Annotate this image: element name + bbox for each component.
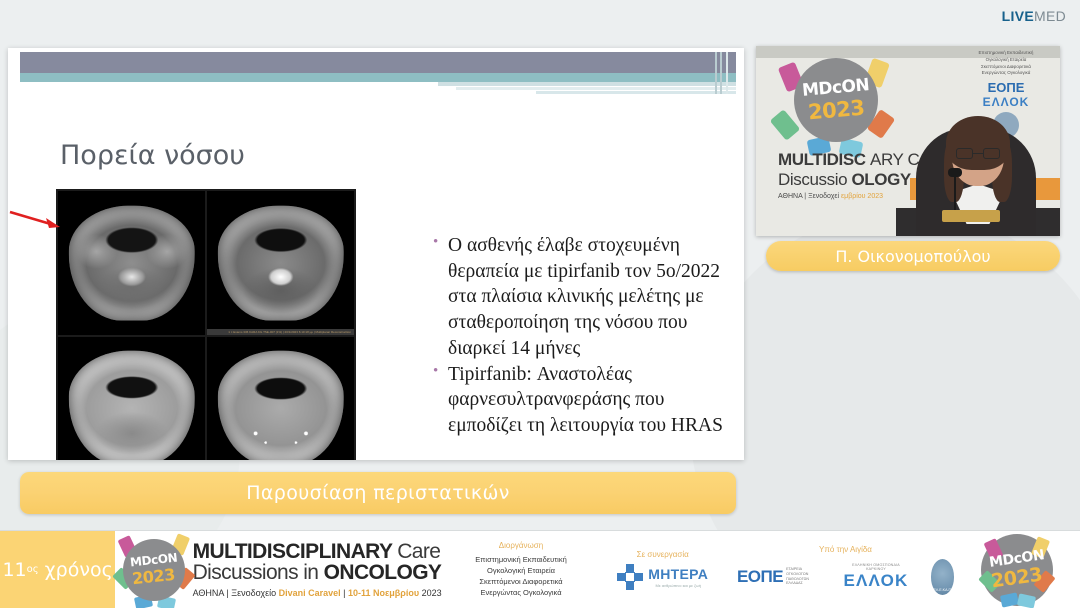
- backdrop-org-line: Ενεργώντας Ογκολογικά: [958, 70, 1054, 77]
- medical-cross-icon: [617, 564, 643, 590]
- slide-decor-vbar-3: [726, 52, 728, 94]
- logo-blob-blue: [1000, 592, 1019, 607]
- footer-venue-year: 2023: [419, 588, 442, 598]
- footer-conference-title: MULTIDISCIPLINARY Care Discussions in ON…: [193, 531, 454, 608]
- ellok-logo: ΕΛΛΗΝΙΚΗ ΟΜΟΣΠΟΝΔΙΑ ΚΑΡΚΙΝΟΥ ΕΛΛΟΚ: [843, 563, 908, 591]
- mri-panel-bottom-right: [207, 337, 354, 461]
- footer-title-line1-thin: Care: [397, 540, 440, 563]
- footer-organizer-line: Σκεπτόμενοι Διαφορετικά: [454, 576, 589, 587]
- ellok-caption: ΕΛΛΗΝΙΚΗ ΟΜΟΣΠΟΝΔΙΑ ΚΑΡΚΙΝΟΥ: [843, 563, 908, 571]
- footer-year-block: 11ος χρόνος: [0, 531, 115, 608]
- eope-subtitle: ΕΤΑΙΡΕΙΑ ΟΓΚΟΛΟΓΩΝ ΠΑΘΟΛΟΓΩΝ ΕΛΛΑΔΑΣ: [786, 567, 821, 586]
- backdrop-venue-date: εμβρίου 2023: [841, 193, 883, 200]
- mri-panel-top-left: [58, 191, 205, 335]
- livemed-logo-med: MED: [1034, 8, 1066, 24]
- mri-axial-slice: [68, 205, 194, 320]
- list-item: Tipirfanib: Αναστολέας φαρνεσυλτρανφεράσ…: [432, 362, 724, 439]
- backdrop-title-line2-bold: OLOGY: [851, 170, 910, 189]
- mitera-logo: ΜΗΤΕΡΑ Με ανθρώπινο και με ζωή: [588, 564, 736, 590]
- slide-title: Πορεία νόσου: [60, 140, 245, 171]
- footer-year-word: χρόνος: [45, 559, 113, 581]
- slide-header-band-grey: [20, 52, 736, 73]
- microphone-icon: [948, 168, 962, 177]
- mri-panel-bottom-left: [58, 337, 205, 461]
- footer-cooperation-heading: Σε συνεργασία: [588, 550, 736, 559]
- mitera-tagline: Με ανθρώπινο και με ζωή: [648, 583, 708, 588]
- footer-venue-sep: |: [341, 588, 348, 598]
- backdrop-venue: ΑΘΗΝΑ | Ξενοδοχεί: [778, 193, 839, 200]
- slide-decor-vbar-1: [715, 52, 717, 94]
- footer-aegis-heading: Υπό την Αιγίδα: [737, 545, 954, 554]
- footer-organizer-line: Επιστημονική Εκπαιδευτική: [454, 554, 589, 565]
- glasses-icon: [956, 148, 1000, 159]
- backdrop-eope-logo: ΕΟΠΕ: [958, 80, 1054, 95]
- logo-blob-cyan: [1017, 593, 1036, 608]
- footer-title-line2-bold: ONCOLOGY: [324, 561, 442, 584]
- session-banner-label: Παρουσίαση περιστατικών: [246, 482, 510, 504]
- backdrop-title-line1-bold: MULTIDISC: [778, 150, 866, 169]
- footer-title-line1-bold: MULTIDISCIPLINARY: [193, 540, 392, 563]
- mri-axial-slice: [217, 351, 343, 460]
- slide-bullet-list: Ο ασθενής έλαβε στοχευμένη θεραπεία με t…: [432, 233, 724, 439]
- footer-title-line2-plain: Discussions in: [193, 561, 319, 584]
- footer-organizer-heading: Διοργάνωση: [454, 541, 589, 550]
- backdrop-mdcon-badge: MDcON 2023: [794, 58, 878, 142]
- session-banner: Παρουσίαση περιστατικών: [20, 472, 736, 514]
- footer-mdcon-logo: MDcON 2023: [115, 531, 192, 608]
- backdrop-title-line2-plain: Discussio: [778, 170, 847, 189]
- eope-name: ΕΟΠΕ: [737, 567, 783, 587]
- footer-organizer-line: Ογκολογική Εταιρεία: [454, 565, 589, 576]
- presentation-slide[interactable]: Πορεία νόσου 1 × Exams 336 KARA KG TSE-0…: [8, 48, 744, 460]
- ellok-name: ΕΛΛΟΚ: [843, 571, 908, 591]
- microphone-stand: [954, 174, 956, 214]
- elekap-name: ΕΛ.Ε.ΚΑ.Π: [933, 588, 951, 592]
- footer-venue-dates: 10-11 Νοεμβρίου: [348, 588, 419, 598]
- backdrop-ellok-logo: ΕΛΛΟΚ: [958, 95, 1054, 109]
- footer-year-number: 11: [2, 559, 26, 581]
- footer-organizer-block: Διοργάνωση Επιστημονική Εκπαιδευτική Ογκ…: [454, 531, 589, 608]
- footer-cooperation-block: Σε συνεργασία ΜΗΤΕΡΑ Με ανθρώπινο και με…: [588, 531, 736, 608]
- slide-decor-vbar-2: [720, 52, 722, 94]
- footer-venue-hotel: Divani Caravel: [279, 588, 341, 598]
- top-bar: LIVEMED: [0, 0, 1080, 32]
- footer-bar: 11ος χρόνος MDcON 2023 MULTIDISCIPLINARY…: [0, 530, 1080, 608]
- slide-decor-stripe-2: [456, 87, 736, 90]
- speaker-name-label: Π. Οικονομοπούλου: [835, 247, 990, 266]
- livemed-logo: LIVEMED: [1002, 8, 1066, 24]
- mri-axial-slice: [68, 351, 194, 460]
- mri-panel-top-right: 1 × Exams 336 KARA KG TSE-007 (1%) | 20/…: [207, 191, 354, 335]
- slide-header-band-teal: [20, 73, 736, 82]
- footer-aegis-block: Υπό την Αιγίδα ΕΟΠΕ ΕΤΑΙΡΕΙΑ ΟΓΚΟΛΟΓΩΝ Π…: [737, 531, 954, 608]
- speaker-hair-top: [946, 116, 1010, 170]
- mdcon-badge: MDcON 2023: [123, 539, 185, 601]
- mitera-name: ΜΗΤΕΡΑ: [648, 566, 708, 582]
- livemed-logo-live: LIVE: [1002, 8, 1034, 24]
- footer-venue-prefix: ΑΘΗΝΑ | Ξενοδοχείο: [193, 588, 279, 598]
- backdrop-org-line: Ογκολογική Εταιρεία: [958, 57, 1054, 64]
- list-item: Ο ασθενής έλαβε στοχευμένη θεραπεία με t…: [432, 233, 724, 362]
- elekap-logo: ΕΛ.Ε.ΚΑ.Π: [931, 559, 955, 595]
- mri-image-grid: 1 × Exams 336 KARA KG TSE-007 (1%) | 20/…: [56, 189, 356, 460]
- backdrop-mdcon-year: 2023: [807, 96, 865, 125]
- speaker-video-panel[interactable]: MDcON 2023 MULTIDISC ARY Care Discussio …: [756, 46, 1060, 236]
- eope-logo: ΕΟΠΕ ΕΤΑΙΡΕΙΑ ΟΓΚΟΛΟΓΩΝ ΠΑΘΟΛΟΓΩΝ ΕΛΛΑΔΑ…: [737, 567, 822, 587]
- mri-axial-slice: [217, 205, 343, 320]
- podium-plate: [942, 210, 1000, 222]
- footer-year-sup: ος: [27, 564, 39, 575]
- footer-organizer-line: Ενεργώντας Ογκολογικά: [454, 587, 589, 598]
- footer-aegis-logos: ΕΟΠΕ ΕΤΑΙΡΕΙΑ ΟΓΚΟΛΟΓΩΝ ΠΑΘΟΛΟΓΩΝ ΕΛΛΑΔΑ…: [737, 559, 954, 595]
- mdcon-badge-year: 2023: [132, 565, 177, 588]
- app-root: LIVEMED Πορεία νόσου 1 × Exams 336 KARA …: [0, 0, 1080, 608]
- red-arrow-annotation: [8, 210, 66, 230]
- backdrop-org-line: Επιστημονική Εκπαιδευτική: [958, 50, 1054, 57]
- mri-caption-strip: 1 × Exams 336 KARA KG TSE-007 (1%) | 20/…: [207, 329, 354, 335]
- slide-decor-stripe-1: [438, 82, 736, 86]
- mdcon-badge-large: MDcON 2023: [981, 534, 1053, 606]
- slide-decor-stripe-3: [536, 91, 736, 94]
- footer-mdcon-badge-right: MDcON 2023: [954, 531, 1080, 608]
- speaker-name-badge: Π. Οικονομοπούλου: [766, 241, 1060, 271]
